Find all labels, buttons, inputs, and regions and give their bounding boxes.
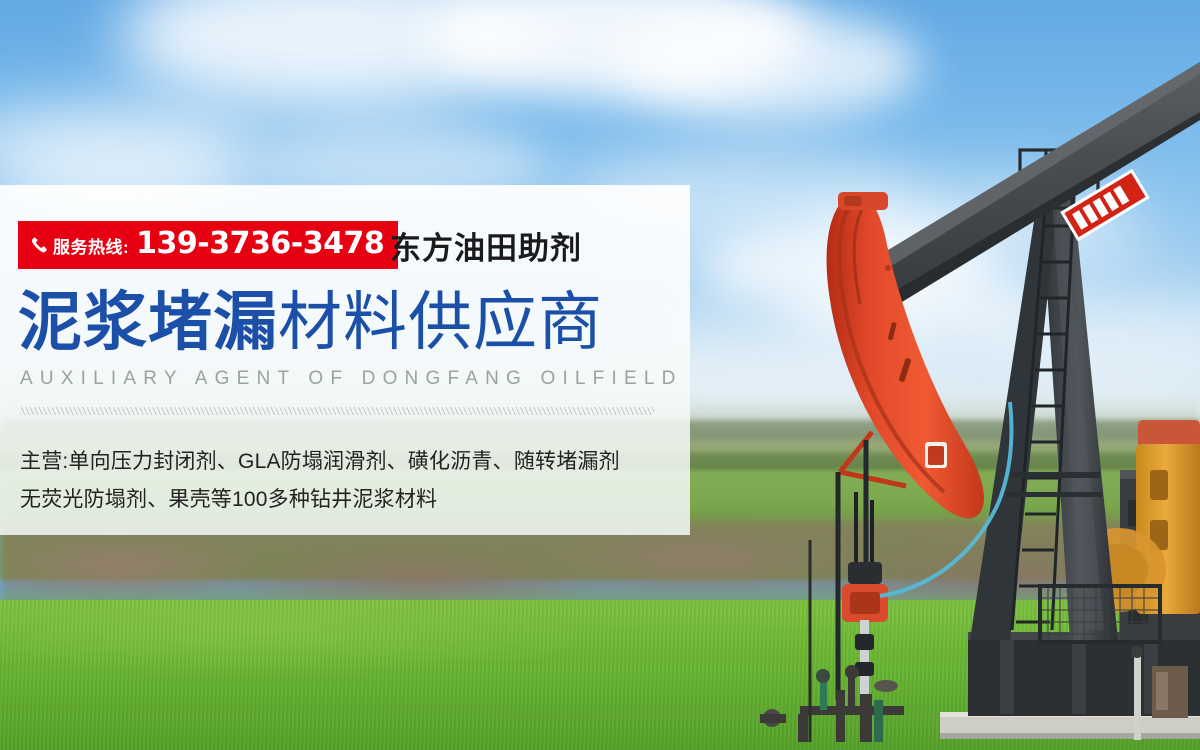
description-line-1: 主营:单向压力封闭剂、GLA防塌润滑剂、磺化沥青、随转堵漏剂: [20, 443, 620, 481]
headline-rest: 材料供应商: [278, 286, 603, 358]
hotline-badge[interactable]: 服务热线: 139-3736-3478: [18, 221, 398, 269]
samson-post: [970, 182, 1118, 640]
brand-name: 东方油田助剂: [390, 221, 582, 269]
hotline-number: 139-3736-3478: [136, 229, 384, 259]
wellhead-cluster: [760, 665, 904, 742]
hero-banner: 服务热线: 139-3736-3478 东方油田助剂 泥浆堵漏材料供应商 AUX…: [0, 0, 1200, 750]
hatched-divider: [20, 407, 654, 415]
panel-inner: 服务热线: 139-3736-3478 东方油田助剂 泥浆堵漏材料供应商 AUX…: [18, 185, 678, 535]
headline-emphasis: 泥浆堵漏: [18, 286, 278, 358]
description-line-2: 无荧光防塌剂、果壳等100多种钻井泥浆材料: [20, 481, 620, 519]
hotline-label: 服务热线:: [53, 233, 129, 258]
phone-handset-icon: [30, 236, 49, 255]
english-subline: AUXILIARY AGENT OF DONGFANG OILFIELD: [20, 368, 683, 390]
headline: 泥浆堵漏材料供应商: [18, 290, 603, 354]
description: 主营:单向压力封闭剂、GLA防塌润滑剂、磺化沥青、随转堵漏剂 无荧光防塌剂、果壳…: [20, 443, 620, 519]
content-panel: 服务热线: 139-3736-3478 东方油田助剂 泥浆堵漏材料供应商 AUX…: [0, 185, 690, 535]
